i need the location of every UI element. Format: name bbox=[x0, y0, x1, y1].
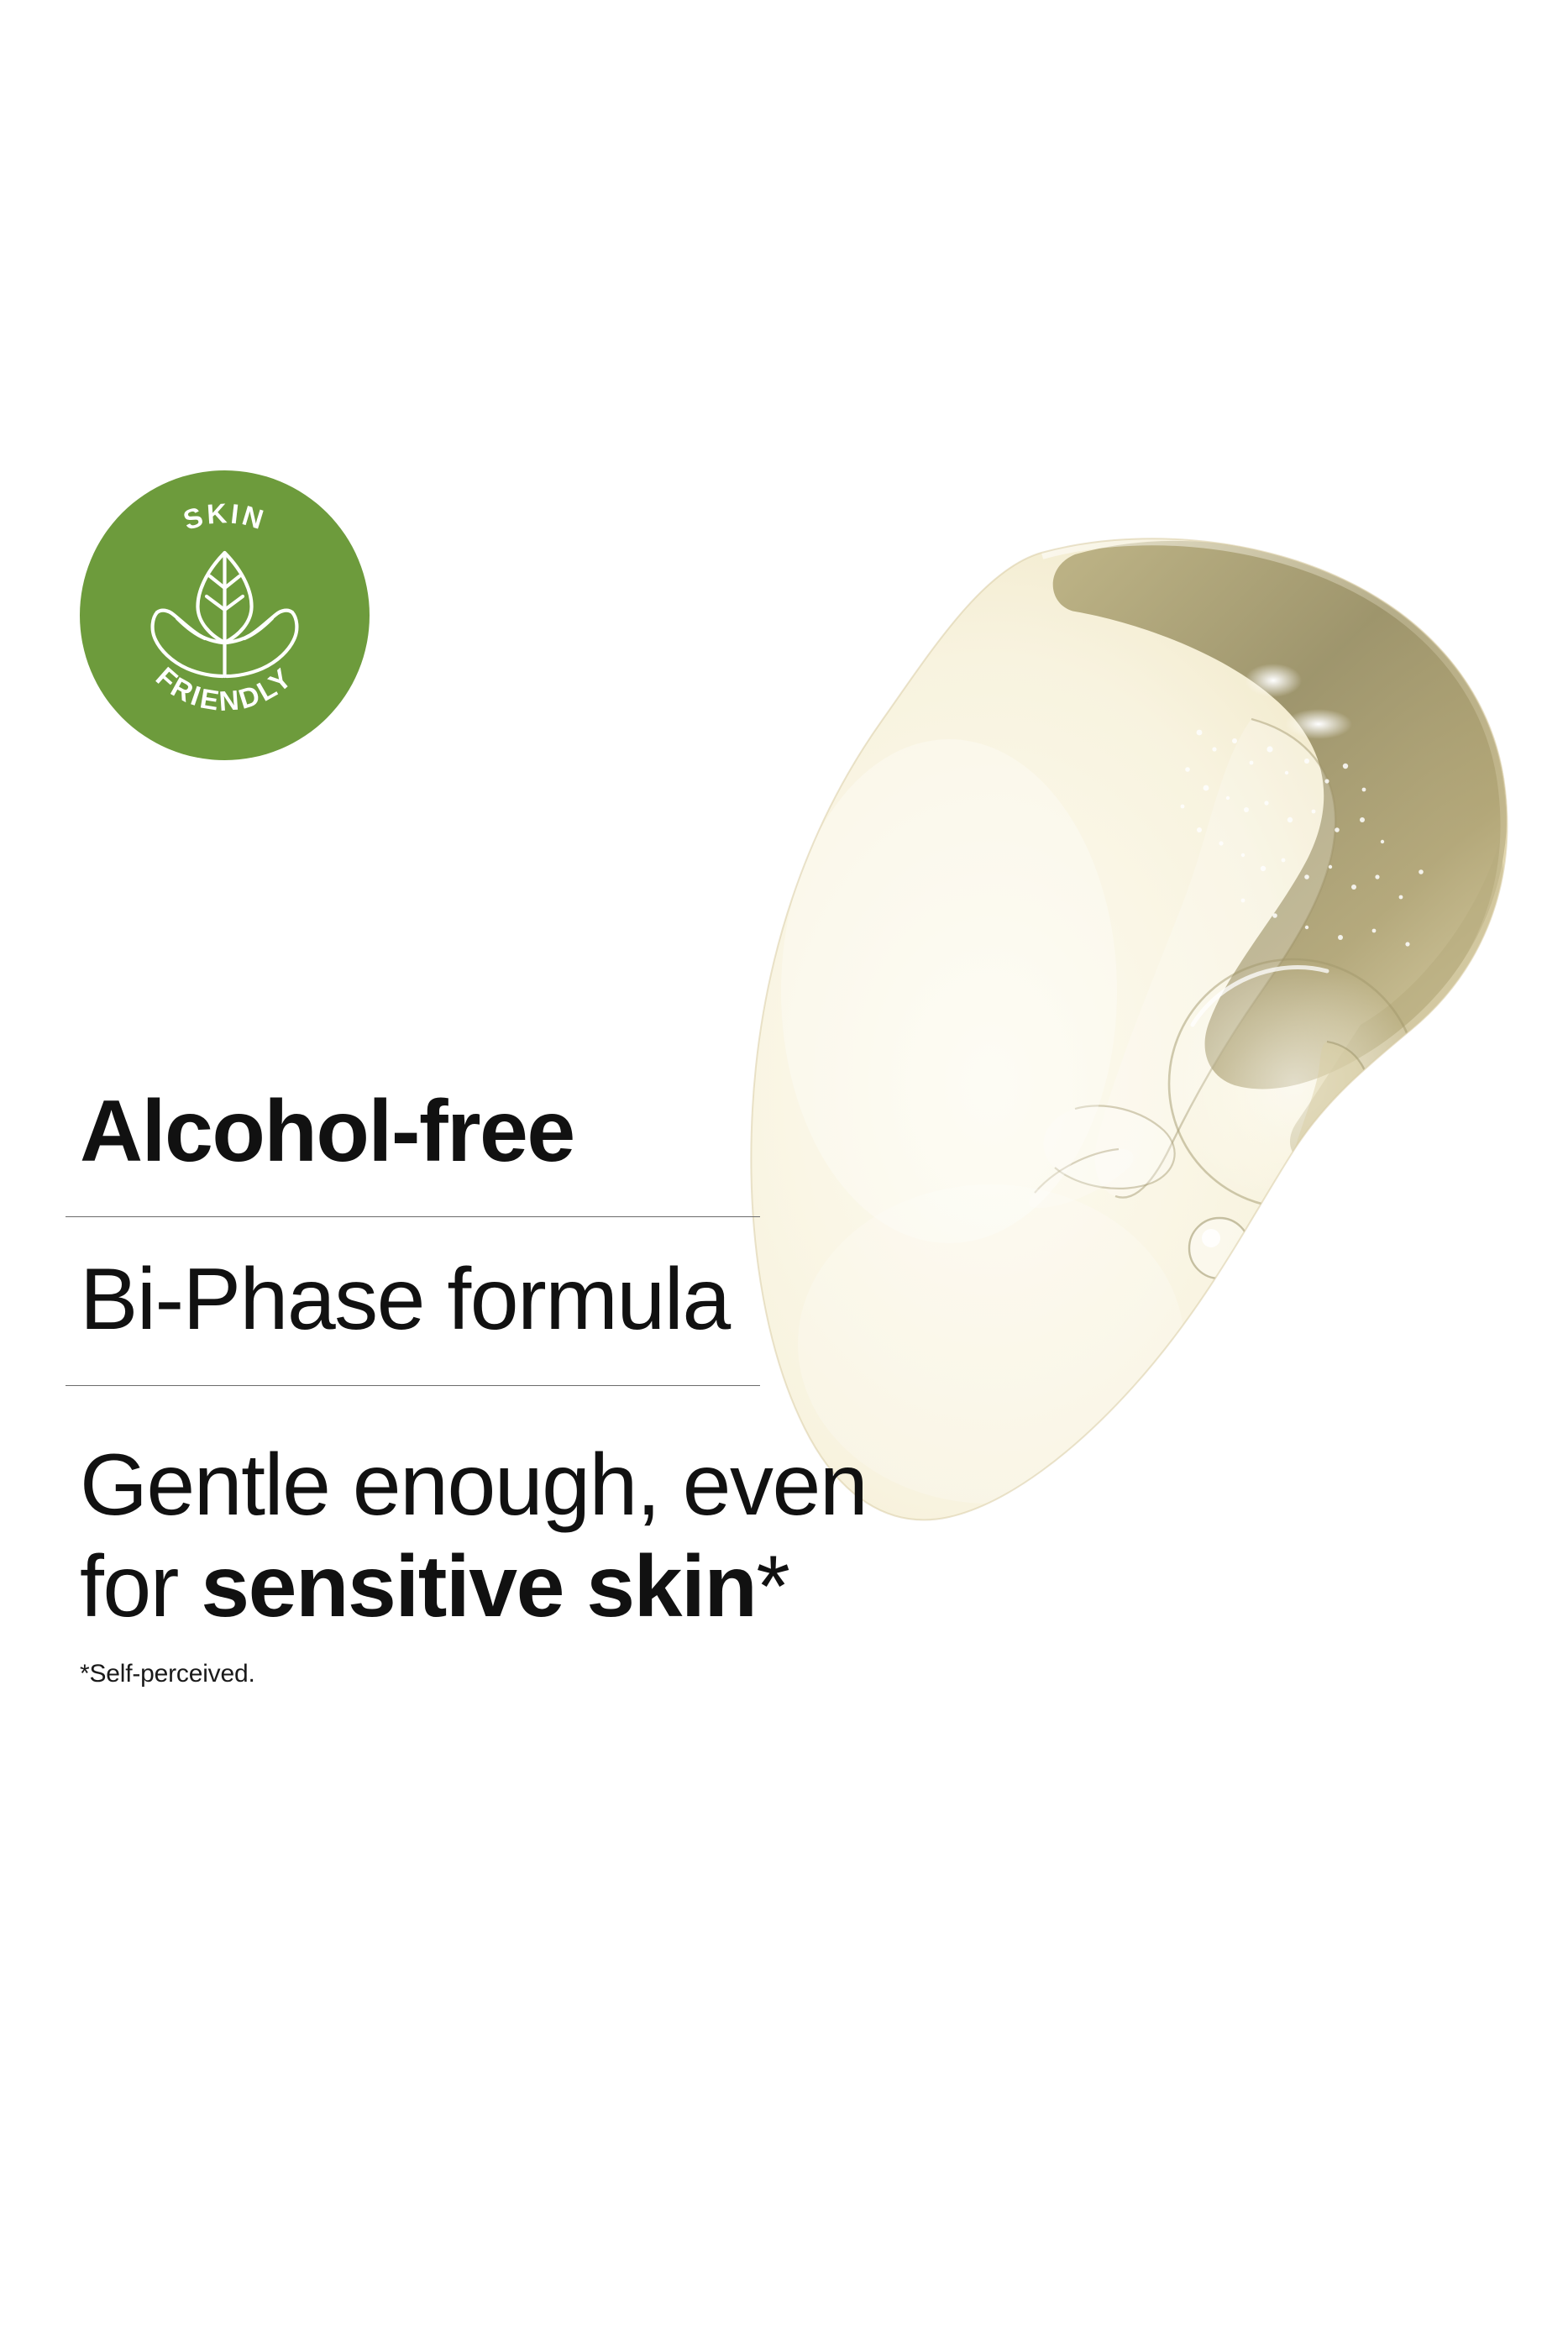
feature-item-bi-phase-formula: Bi-Phase formula bbox=[66, 1217, 973, 1386]
sensitive-skin-line-2-prefix: for bbox=[80, 1538, 201, 1635]
gel-sparkle-1 bbox=[1245, 664, 1302, 697]
skin-friendly-badge: SKIN FRIENDLY bbox=[80, 470, 370, 760]
feature-item-alcohol-free: Alcohol-free bbox=[66, 1046, 973, 1216]
gel-small-bubble-highlight bbox=[1202, 1229, 1220, 1247]
gel-large-bubble-fill bbox=[1169, 959, 1418, 1208]
footnote-self-perceived: *Self-perceived. bbox=[66, 1638, 973, 1688]
feature-list: Alcohol-free Bi-Phase formula Gentle eno… bbox=[66, 1046, 973, 1688]
badge-top-label-text: SKIN bbox=[180, 497, 270, 536]
leaf-in-cupped-hands-icon bbox=[153, 553, 297, 676]
sensitive-skin-emphasis: sensitive skin bbox=[201, 1538, 756, 1635]
skin-friendly-badge-graphic: SKIN FRIENDLY bbox=[80, 470, 370, 760]
feature-item-sensitive-skin: Gentle enough, evenfor sensitive skin* *… bbox=[66, 1386, 973, 1688]
badge-top-label: SKIN bbox=[180, 497, 270, 536]
feature-label-bi-phase-formula: Bi-Phase formula bbox=[66, 1249, 973, 1351]
gel-sparkle-2 bbox=[1285, 709, 1352, 739]
product-feature-panel: SKIN FRIENDLY bbox=[0, 0, 1568, 2352]
feature-label-sensitive-skin: Gentle enough, evenfor sensitive skin* bbox=[66, 1435, 973, 1637]
sensitive-skin-asterisk: * bbox=[756, 1538, 789, 1635]
sensitive-skin-line-1: Gentle enough, even bbox=[80, 1436, 867, 1534]
feature-label-alcohol-free: Alcohol-free bbox=[66, 1081, 973, 1183]
